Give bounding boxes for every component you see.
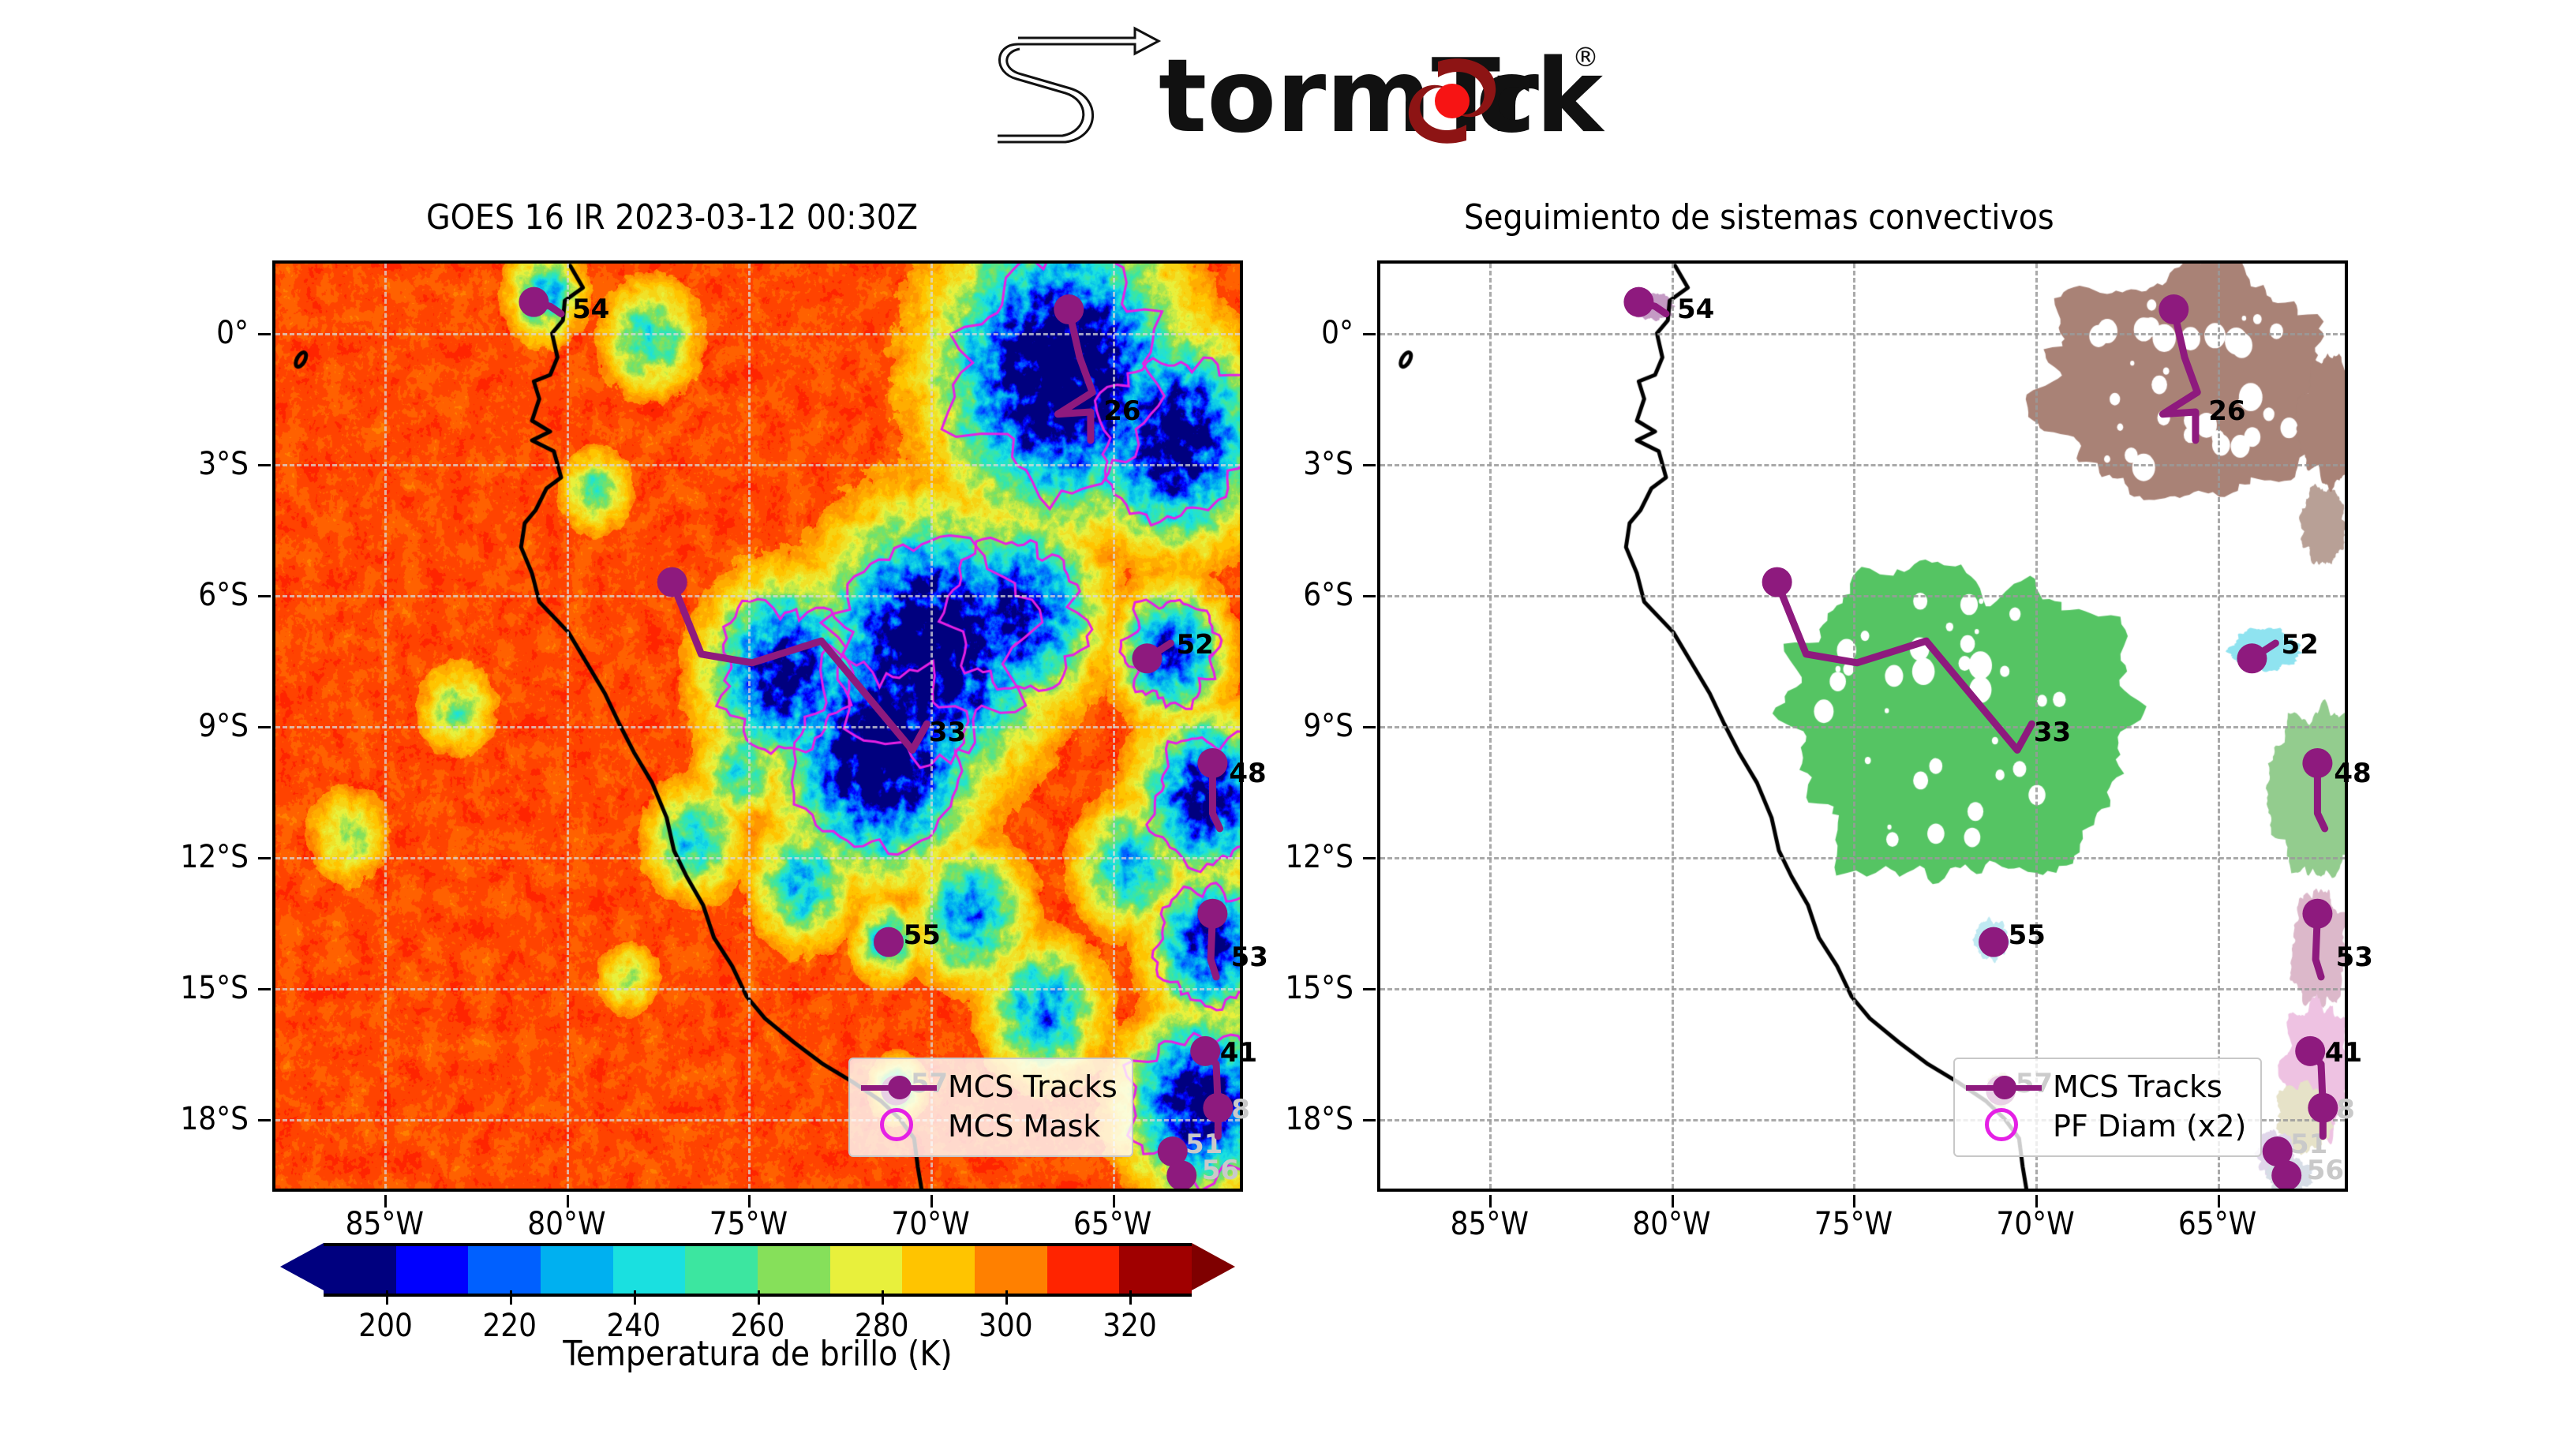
stormtrack-logo: tormTr ck ® — [971, 21, 1618, 163]
y-tick-label: 3°S — [75, 446, 249, 482]
right-map-axes[interactable] — [1377, 260, 2348, 1192]
y-tick-mark — [1363, 595, 1376, 597]
line-dot-swatch-icon — [1966, 1067, 2042, 1106]
mcs-id-label-54: 54 — [572, 294, 609, 325]
mcs-id-label-55: 55 — [904, 919, 941, 951]
y-tick-label: 18°S — [75, 1101, 249, 1137]
x-tick-label: 70°W — [891, 1206, 969, 1242]
mcs-id-label-58: 58 — [1213, 1094, 1250, 1125]
colorbar-tick — [510, 1290, 512, 1305]
colorbar-band-4 — [613, 1246, 686, 1294]
legend-item-pf-diam: PF Diam (x2) — [1966, 1106, 2246, 1146]
colorbar-tick — [882, 1290, 884, 1305]
mcs-id-label-53: 53 — [1231, 942, 1268, 973]
y-tick-label: 9°S — [75, 708, 249, 744]
left-map-axes[interactable] — [272, 260, 1243, 1192]
y-tick-label: 9°S — [1180, 708, 1354, 744]
mcs-mask-raster — [1380, 264, 2345, 1189]
mcs-id-label-48: 48 — [1229, 758, 1266, 789]
y-tick-label: 0° — [75, 315, 249, 351]
mcs-id-label-53: 53 — [2336, 942, 2373, 973]
mcs-id-label-48: 48 — [2334, 758, 2371, 789]
legend-item-mcs-tracks: MCS Tracks — [1966, 1067, 2246, 1106]
y-tick-label: 0° — [1180, 315, 1354, 351]
mcs-id-label-33: 33 — [2034, 717, 2071, 748]
mcs-id-label-56: 56 — [1202, 1155, 1239, 1186]
mcs-id-label-41: 41 — [1220, 1037, 1257, 1069]
colorbar-label: Temperatura de brillo (K) — [280, 1334, 1235, 1374]
colorbar-band-11 — [1119, 1246, 1192, 1294]
mcs-id-label-52: 52 — [1176, 629, 1213, 661]
circle-swatch-icon — [1966, 1106, 2042, 1146]
mcs-id-label-26: 26 — [1103, 395, 1140, 427]
mcs-id-label-58: 58 — [2318, 1094, 2355, 1125]
line-dot-swatch-icon — [861, 1067, 937, 1106]
mcs-id-label-26: 26 — [2208, 395, 2245, 427]
colorbar-band-1 — [396, 1246, 469, 1294]
colorbar-tick — [758, 1290, 760, 1305]
colorbar-band-6 — [758, 1246, 830, 1294]
mcs-id-label-52: 52 — [2281, 629, 2318, 661]
y-tick-label: 6°S — [75, 577, 249, 613]
x-tick-label: 85°W — [346, 1206, 424, 1242]
mcs-id-label-56: 56 — [2307, 1155, 2344, 1186]
colorbar-band-8 — [902, 1246, 975, 1294]
y-tick-label: 3°S — [1180, 446, 1354, 482]
y-tick-mark — [258, 988, 271, 990]
colorbar-tick — [1129, 1290, 1132, 1305]
right-legend: MCS Tracks PF Diam (x2) — [1953, 1058, 2262, 1157]
legend-item-mcs-mask: MCS Mask — [861, 1106, 1118, 1146]
y-tick-label: 15°S — [1180, 970, 1354, 1006]
legend-label: MCS Tracks — [948, 1069, 1118, 1104]
y-tick-mark — [1363, 857, 1376, 859]
right-panel-title: Seguimiento de sistemas convectivos — [1464, 197, 2054, 238]
y-tick-mark — [1363, 464, 1376, 466]
registered-trademark-symbol: ® — [1572, 42, 1599, 73]
colorbar-extend-low-icon — [280, 1243, 324, 1290]
colorbar-band-10 — [1047, 1246, 1120, 1294]
left-legend: MCS Tracks MCS Mask — [848, 1058, 1133, 1157]
colorbar-extend-high-icon — [1192, 1243, 1235, 1290]
y-tick-label: 12°S — [1180, 839, 1354, 875]
legend-label: MCS Mask — [948, 1109, 1100, 1144]
legend-label: MCS Tracks — [2053, 1069, 2222, 1104]
y-tick-mark — [258, 726, 271, 728]
mcs-id-label-54: 54 — [1677, 294, 1714, 325]
y-tick-mark — [1363, 1119, 1376, 1121]
x-tick-label: 65°W — [1073, 1206, 1151, 1242]
y-tick-mark — [258, 857, 271, 859]
colorbar-band-3 — [541, 1246, 613, 1294]
y-tick-label: 6°S — [1180, 577, 1354, 613]
mcs-id-label-33: 33 — [929, 717, 966, 748]
x-tick-label: 75°W — [710, 1206, 788, 1242]
colorbar-band-9 — [975, 1246, 1047, 1294]
legend-item-mcs-tracks: MCS Tracks — [861, 1067, 1118, 1106]
x-tick-label: 80°W — [1632, 1206, 1710, 1242]
y-tick-mark — [1363, 988, 1376, 990]
colorbar-band-0 — [324, 1246, 396, 1294]
legend-label: PF Diam (x2) — [2053, 1109, 2246, 1144]
y-tick-label: 15°S — [75, 970, 249, 1006]
logo-arrow-s-icon — [998, 28, 1159, 142]
mcs-id-label-41: 41 — [2325, 1037, 2362, 1069]
x-tick-label: 80°W — [527, 1206, 605, 1242]
x-tick-label: 75°W — [1814, 1206, 1893, 1242]
colorbar-tick — [1005, 1290, 1008, 1305]
x-tick-label: 65°W — [2178, 1206, 2256, 1242]
y-tick-mark — [258, 595, 271, 597]
colorbar: 200220240260280300320 — [280, 1243, 1235, 1290]
y-tick-mark — [258, 1119, 271, 1121]
y-tick-mark — [258, 464, 271, 466]
x-tick-label: 70°W — [1996, 1206, 2074, 1242]
colorbar-gradient — [324, 1243, 1192, 1297]
y-tick-mark — [258, 333, 271, 335]
x-tick-label: 85°W — [1451, 1206, 1529, 1242]
colorbar-band-7 — [830, 1246, 903, 1294]
mcs-id-label-55: 55 — [2009, 919, 2046, 951]
y-tick-label: 12°S — [75, 839, 249, 875]
colorbar-band-2 — [468, 1246, 541, 1294]
y-tick-mark — [1363, 333, 1376, 335]
left-panel-title: GOES 16 IR 2023-03-12 00:30Z — [426, 197, 918, 238]
circle-swatch-icon — [861, 1106, 937, 1146]
colorbar-tick — [634, 1290, 636, 1305]
colorbar-tick — [386, 1290, 388, 1305]
y-tick-mark — [1363, 726, 1376, 728]
colorbar-band-5 — [685, 1246, 758, 1294]
ir-brightness-temperature-raster — [275, 264, 1240, 1189]
